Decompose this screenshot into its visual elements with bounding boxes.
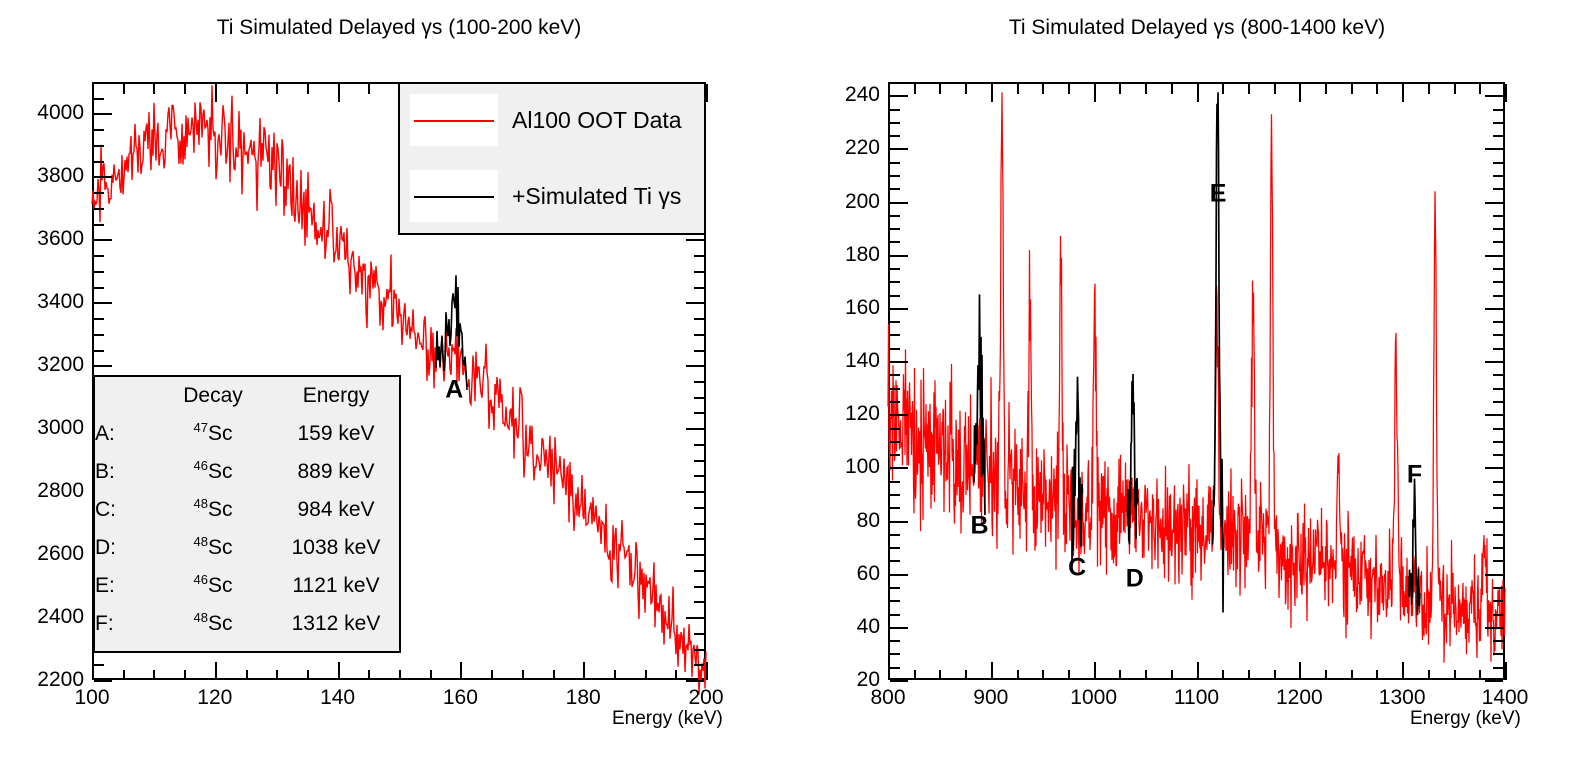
decay-header-energy: Energy	[273, 377, 399, 415]
axis-tick	[460, 662, 462, 680]
axis-tick	[686, 617, 704, 619]
axis-tick	[583, 662, 585, 680]
axis-tick	[1493, 600, 1503, 602]
axis-tick	[1493, 228, 1503, 230]
y-tick-label: 3400	[0, 290, 84, 314]
legend-entry-sim: +Simulated Ti γs	[410, 170, 681, 222]
axis-tick	[1428, 670, 1430, 680]
axis-tick	[965, 670, 967, 680]
axis-tick	[890, 560, 900, 562]
axis-tick	[1042, 84, 1044, 94]
axis-tick	[890, 441, 900, 443]
axis-tick	[94, 192, 104, 194]
decay-row-isotope: 48Sc	[153, 529, 273, 567]
axis-tick	[276, 670, 278, 680]
axis-tick	[1402, 662, 1404, 680]
decay-row-energy: 1121 keV	[273, 567, 399, 605]
axis-tick	[1493, 653, 1503, 655]
axis-tick	[991, 84, 993, 102]
axis-tick	[686, 680, 704, 682]
axis-tick	[1485, 627, 1503, 629]
axis-tick	[1493, 175, 1503, 177]
axis-tick	[1493, 547, 1503, 549]
y-tick-label: 220	[798, 136, 880, 160]
axis-tick	[1485, 308, 1503, 310]
axis-tick	[706, 662, 708, 680]
decay-table-header-row: Decay Energy	[95, 377, 399, 415]
axis-tick	[614, 670, 616, 680]
axis-tick	[1248, 670, 1250, 680]
axis-tick	[215, 84, 217, 102]
axis-tick	[1493, 587, 1503, 589]
axis-tick	[694, 586, 704, 588]
decay-row-energy: 1038 keV	[273, 529, 399, 567]
axis-tick	[94, 208, 104, 210]
axis-tick	[1376, 84, 1378, 94]
axis-tick	[1068, 670, 1070, 680]
axis-tick	[1145, 670, 1147, 680]
decay-row-key: A:	[95, 415, 153, 453]
axis-tick	[1493, 188, 1503, 190]
axis-tick	[1493, 348, 1503, 350]
axis-tick	[94, 98, 104, 100]
axis-tick	[184, 670, 186, 680]
peak-label-b: B	[970, 511, 988, 540]
axis-tick	[890, 122, 900, 124]
axis-tick	[694, 444, 704, 446]
axis-tick	[645, 670, 647, 680]
axis-tick	[1485, 361, 1503, 363]
axis-tick	[1402, 84, 1404, 102]
y-tick-label: 2200	[0, 668, 84, 692]
axis-tick	[890, 521, 908, 523]
axis-tick	[890, 308, 908, 310]
axis-tick	[686, 428, 704, 430]
axis-tick	[153, 670, 155, 680]
decay-row-key: B:	[95, 453, 153, 491]
decay-table-row: A:47Sc159 keV	[95, 415, 399, 453]
axis-tick	[1325, 670, 1327, 680]
decay-header-key	[95, 377, 153, 415]
axis-tick	[888, 662, 890, 680]
axis-tick	[1479, 84, 1481, 94]
axis-tick	[94, 318, 104, 320]
axis-tick	[890, 507, 900, 509]
axis-tick	[694, 397, 704, 399]
y-tick-label: 2800	[0, 479, 84, 503]
axis-tick	[1493, 428, 1503, 430]
axis-tick	[430, 670, 432, 680]
y-tick-label: 20	[798, 668, 880, 692]
axis-tick	[1493, 401, 1503, 403]
axis-tick	[890, 255, 908, 257]
x-axis-title-right: Energy (keV)	[1410, 708, 1521, 730]
axis-tick	[890, 454, 900, 456]
axis-tick	[890, 268, 900, 270]
y-tick-label: 2400	[0, 605, 84, 629]
axis-tick	[1493, 667, 1503, 669]
decay-table-row: F:48Sc1312 keV	[95, 605, 399, 643]
x-tick-label: 1200	[1276, 686, 1323, 710]
axis-tick	[706, 84, 708, 102]
axis-tick	[123, 84, 125, 94]
axis-tick	[1493, 135, 1503, 137]
decay-row-isotope: 48Sc	[153, 491, 273, 529]
decay-row-energy: 984 keV	[273, 491, 399, 529]
axis-tick	[890, 374, 900, 376]
axis-tick	[1094, 662, 1096, 680]
axis-tick	[890, 534, 900, 536]
axis-tick	[890, 109, 900, 111]
axis-tick	[890, 82, 900, 84]
axis-tick	[1119, 670, 1121, 680]
axis-tick	[1145, 84, 1147, 94]
axis-tick	[1493, 494, 1503, 496]
axis-tick	[890, 428, 900, 430]
axis-tick	[1197, 662, 1199, 680]
axis-tick	[94, 113, 112, 115]
axis-tick	[1493, 281, 1503, 283]
axis-tick	[1171, 84, 1173, 94]
axis-tick	[890, 667, 900, 669]
y-tick-label: 4000	[0, 101, 84, 125]
legend-line-sim	[414, 196, 494, 198]
axis-tick	[890, 295, 900, 297]
axis-tick	[890, 281, 900, 283]
axis-tick	[94, 255, 104, 257]
axis-tick	[338, 84, 340, 102]
axis-tick	[939, 84, 941, 94]
axis-tick	[694, 601, 704, 603]
axis-tick	[553, 670, 555, 680]
decay-table-box: Decay Energy A:47Sc159 keVB:46Sc889 keVC…	[93, 375, 401, 653]
axis-tick	[890, 348, 900, 350]
peak-label-a: A	[445, 376, 463, 405]
axis-tick	[94, 271, 104, 273]
axis-tick	[890, 215, 900, 217]
axis-tick	[94, 145, 104, 147]
axis-tick	[965, 84, 967, 94]
axis-tick	[890, 95, 908, 97]
axis-tick	[1493, 82, 1503, 84]
plot-panel-left: Ti Simulated Delayed γs (100-200 keV) 22…	[0, 0, 798, 772]
x-tick-label: 200	[688, 686, 723, 710]
axis-tick	[694, 633, 704, 635]
axis-tick	[890, 334, 900, 336]
axis-tick	[1493, 241, 1503, 243]
axis-tick	[694, 287, 704, 289]
axis-tick	[94, 350, 104, 352]
axis-tick	[1171, 670, 1173, 680]
axis-tick	[890, 614, 900, 616]
legend-entry-data: Al100 OOT Data	[410, 94, 682, 146]
axis-tick	[94, 287, 104, 289]
axis-tick	[1493, 268, 1503, 270]
axis-tick	[92, 84, 94, 102]
decay-row-isotope: 48Sc	[153, 605, 273, 643]
axis-tick	[890, 148, 908, 150]
axis-tick	[890, 587, 900, 589]
axis-tick	[1428, 84, 1430, 94]
axis-tick	[1299, 84, 1301, 102]
peak-label-d: D	[1126, 565, 1144, 594]
axis-tick	[890, 188, 900, 190]
axis-tick	[1485, 680, 1503, 682]
decay-table-body: A:47Sc159 keVB:46Sc889 keVC:48Sc984 keVD…	[95, 415, 399, 643]
axis-tick	[246, 84, 248, 94]
y-tick-label: 180	[798, 243, 880, 267]
decay-row-energy: 159 keV	[273, 415, 399, 453]
axis-tick	[1493, 507, 1503, 509]
axis-tick	[1493, 481, 1503, 483]
decay-header-decay: Decay	[153, 377, 273, 415]
spectrum-canvas-right	[798, 0, 1596, 772]
axis-tick	[694, 507, 704, 509]
axis-tick	[1485, 255, 1503, 257]
axis-tick	[694, 475, 704, 477]
axis-tick	[694, 664, 704, 666]
axis-tick	[694, 381, 704, 383]
x-tick-label: 140	[320, 686, 355, 710]
axis-tick	[94, 176, 112, 178]
axis-tick	[1325, 84, 1327, 94]
axis-tick	[1493, 122, 1503, 124]
axis-tick	[1493, 560, 1503, 562]
axis-tick	[890, 680, 908, 682]
decay-row-energy: 889 keV	[273, 453, 399, 491]
axis-tick	[94, 239, 112, 241]
axis-tick	[890, 321, 900, 323]
axis-tick	[246, 670, 248, 680]
axis-tick	[368, 84, 370, 94]
axis-tick	[1493, 215, 1503, 217]
x-tick-label: 1100	[1174, 686, 1219, 710]
axis-tick	[1485, 414, 1503, 416]
legend-box: Al100 OOT Data +Simulated Ti γs	[398, 82, 706, 235]
y-tick-label: 120	[798, 402, 880, 426]
axis-tick	[675, 670, 677, 680]
peak-label-f: F	[1407, 461, 1422, 490]
axis-tick	[307, 84, 309, 94]
axis-tick	[1094, 84, 1096, 102]
axis-tick	[1485, 467, 1503, 469]
axis-tick	[94, 129, 104, 131]
axis-tick	[1351, 670, 1353, 680]
axis-tick	[991, 662, 993, 680]
plot-panel-right: Ti Simulated Delayed γs (800-1400 keV) 2…	[798, 0, 1596, 772]
x-tick-label: 1400	[1482, 686, 1529, 710]
y-tick-label: 3800	[0, 164, 84, 188]
y-tick-label: 2600	[0, 542, 84, 566]
axis-tick	[215, 662, 217, 680]
decay-row-key: F:	[95, 605, 153, 643]
axis-tick	[307, 670, 309, 680]
axis-tick	[1222, 670, 1224, 680]
axis-tick	[890, 494, 900, 496]
x-axis-title-left: Energy (keV)	[612, 708, 723, 730]
axis-tick	[1222, 84, 1224, 94]
axis-tick	[890, 361, 908, 363]
axis-tick	[338, 662, 340, 680]
decay-table: Decay Energy A:47Sc159 keVB:46Sc889 keVC…	[95, 377, 399, 643]
y-tick-label: 140	[798, 349, 880, 373]
axis-tick	[1505, 662, 1507, 680]
decay-row-isotope: 46Sc	[153, 567, 273, 605]
axis-tick	[1376, 670, 1378, 680]
axis-tick	[94, 302, 112, 304]
axis-tick	[1493, 640, 1503, 642]
axis-tick	[276, 84, 278, 94]
axis-tick	[890, 414, 908, 416]
y-tick-label: 40	[798, 615, 880, 639]
axis-tick	[1351, 84, 1353, 94]
y-tick-label: 160	[798, 296, 880, 320]
axis-tick	[694, 271, 704, 273]
y-tick-label: 3200	[0, 353, 84, 377]
axis-tick	[890, 481, 900, 483]
axis-tick	[890, 547, 900, 549]
axis-tick	[890, 202, 908, 204]
axis-tick	[890, 388, 900, 390]
decay-row-isotope: 47Sc	[153, 415, 273, 453]
legend-label-sim: +Simulated Ti γs	[512, 183, 681, 210]
axis-tick	[890, 627, 908, 629]
axis-tick	[1274, 84, 1276, 94]
axis-tick	[686, 302, 704, 304]
axis-tick	[94, 334, 104, 336]
axis-tick	[1479, 670, 1481, 680]
axis-tick	[686, 239, 704, 241]
decay-table-row: E:46Sc1121 keV	[95, 567, 399, 605]
decay-table-row: B:46Sc889 keV	[95, 453, 399, 491]
axis-tick	[890, 467, 908, 469]
axis-tick	[522, 670, 524, 680]
y-tick-label: 100	[798, 455, 880, 479]
decay-row-key: E:	[95, 567, 153, 605]
axis-tick	[1493, 321, 1503, 323]
decay-table-row: D:48Sc1038 keV	[95, 529, 399, 567]
axis-tick	[939, 670, 941, 680]
y-tick-label: 60	[798, 562, 880, 586]
x-tick-label: 100	[74, 686, 109, 710]
axis-tick	[890, 228, 900, 230]
axis-tick	[1017, 670, 1019, 680]
axis-tick	[914, 670, 916, 680]
axis-tick	[1197, 84, 1199, 102]
axis-tick	[694, 460, 704, 462]
axis-tick	[1493, 388, 1503, 390]
y-tick-label: 200	[798, 190, 880, 214]
axis-tick	[94, 365, 112, 367]
decay-row-isotope: 46Sc	[153, 453, 273, 491]
axis-tick	[890, 640, 900, 642]
legend-label-data: Al100 OOT Data	[512, 107, 682, 134]
axis-tick	[1493, 534, 1503, 536]
axis-tick	[1485, 148, 1503, 150]
axis-tick	[1274, 670, 1276, 680]
axis-tick	[694, 523, 704, 525]
axis-tick	[399, 670, 401, 680]
axis-tick	[686, 491, 704, 493]
axis-tick	[491, 670, 493, 680]
x-tick-label: 160	[443, 686, 478, 710]
decay-row-energy: 1312 keV	[273, 605, 399, 643]
y-tick-label: 3600	[0, 227, 84, 251]
axis-tick	[694, 350, 704, 352]
axis-tick	[1493, 454, 1503, 456]
axis-tick	[1493, 162, 1503, 164]
axis-tick	[694, 538, 704, 540]
axis-tick	[1042, 670, 1044, 680]
axis-tick	[694, 334, 704, 336]
axis-tick	[1299, 662, 1301, 680]
legend-swatch-sim	[410, 170, 498, 222]
axis-tick	[92, 662, 94, 680]
axis-tick	[94, 82, 104, 84]
x-tick-label: 180	[566, 686, 601, 710]
axis-tick	[890, 574, 908, 576]
y-tick-label: 3000	[0, 416, 84, 440]
axis-tick	[694, 412, 704, 414]
axis-tick	[1454, 670, 1456, 680]
peak-label-e: E	[1210, 179, 1227, 208]
axis-tick	[1505, 84, 1507, 102]
axis-tick	[94, 680, 112, 682]
axis-tick	[1493, 614, 1503, 616]
x-tick-label: 1000	[1070, 686, 1117, 710]
axis-tick	[694, 570, 704, 572]
axis-tick	[888, 84, 890, 102]
x-tick-label: 120	[197, 686, 232, 710]
decay-table-row: C:48Sc984 keV	[95, 491, 399, 529]
axis-tick	[1485, 202, 1503, 204]
axis-tick	[890, 653, 900, 655]
axis-tick	[1493, 295, 1503, 297]
axis-tick	[1485, 574, 1503, 576]
y-tick-label: 80	[798, 509, 880, 533]
axis-tick	[1248, 84, 1250, 94]
axis-tick	[1493, 441, 1503, 443]
axis-tick	[94, 161, 104, 163]
axis-tick	[1485, 95, 1503, 97]
x-tick-label: 900	[973, 686, 1008, 710]
axis-tick	[890, 135, 900, 137]
axis-tick	[184, 84, 186, 94]
y-tick-label: 240	[798, 83, 880, 107]
axis-tick	[1068, 84, 1070, 94]
axis-tick	[890, 175, 900, 177]
axis-tick	[890, 241, 900, 243]
peak-label-c: C	[1068, 554, 1086, 583]
axis-tick	[123, 670, 125, 680]
decay-row-key: C:	[95, 491, 153, 529]
axis-tick	[1454, 84, 1456, 94]
legend-swatch-data	[410, 94, 498, 146]
axis-tick	[694, 255, 704, 257]
axis-tick	[914, 84, 916, 94]
legend-line-data	[414, 120, 494, 122]
sim-peak-f	[1409, 479, 1420, 615]
axis-tick	[368, 670, 370, 680]
axis-tick	[1017, 84, 1019, 94]
axis-tick	[153, 84, 155, 94]
axis-tick	[1485, 521, 1503, 523]
x-tick-label: 1300	[1379, 686, 1426, 710]
axis-tick	[890, 162, 900, 164]
axis-tick	[686, 365, 704, 367]
axis-tick	[1493, 334, 1503, 336]
axis-tick	[1119, 84, 1121, 94]
